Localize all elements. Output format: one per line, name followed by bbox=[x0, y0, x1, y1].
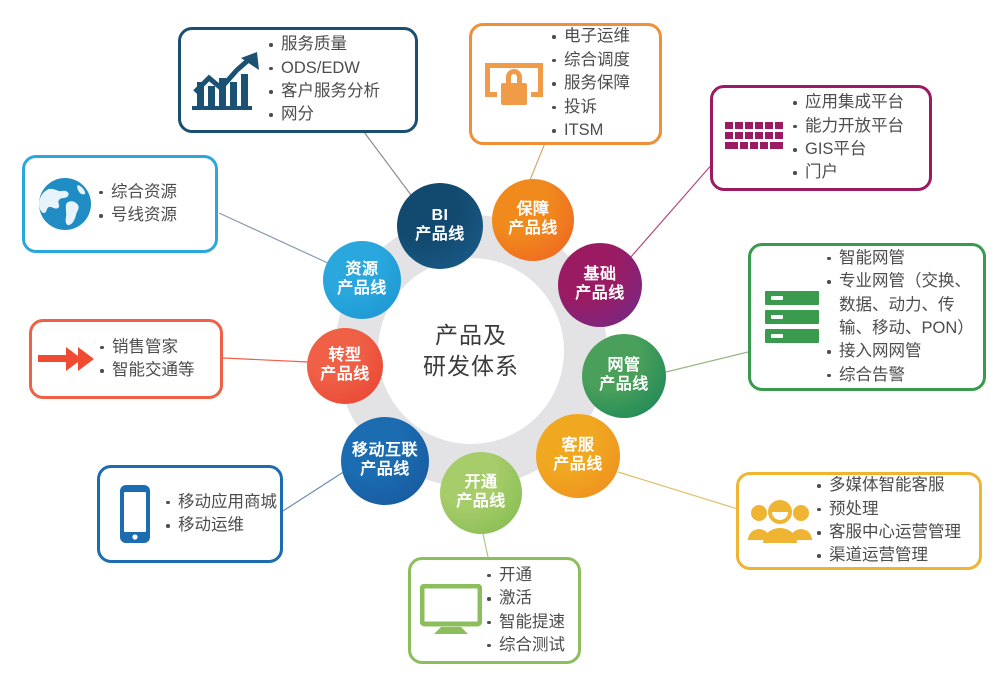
list-item: 综合测试 bbox=[485, 634, 570, 657]
bubble-kaitong-line1: 开通 bbox=[464, 474, 497, 493]
bubble-yidong-line2: 产品线 bbox=[360, 461, 410, 480]
bubble-kefu[interactable]: 客服 产品线 bbox=[536, 414, 620, 498]
list-item: 开通 bbox=[485, 564, 570, 587]
lock-monitor-icon bbox=[478, 51, 550, 117]
list-item: 门户 bbox=[791, 161, 921, 184]
connector-zhuanxing bbox=[223, 358, 308, 362]
list-item: 智能交通等 bbox=[98, 359, 212, 382]
list-item: 客户服务分析 bbox=[267, 80, 405, 103]
bubble-ziyuan-line1: 资源 bbox=[345, 261, 378, 280]
callout-wangguan-list: 智能网管 专业网管（交换、数据、动力、传输、移动、PON） 接入网网管 综合告警 bbox=[825, 247, 975, 388]
list-item: 投诉 bbox=[550, 96, 651, 119]
bubble-ziyuan-line2: 产品线 bbox=[337, 280, 387, 299]
bar-chart-arrow-icon bbox=[189, 48, 267, 112]
list-item: 多媒体智能客服 bbox=[815, 474, 971, 497]
hub-line-1: 产品及 bbox=[435, 320, 507, 351]
list-item: ITSM bbox=[550, 119, 651, 142]
callout-baozhang-list: 电子运维 综合调度 服务保障 投诉 ITSM bbox=[550, 25, 651, 142]
callout-ziyuan-list: 综合资源 号线资源 bbox=[97, 181, 207, 228]
list-item: 激活 bbox=[485, 587, 570, 610]
bubble-wangguan-line1: 网管 bbox=[607, 357, 640, 376]
callout-kefu[interactable]: 多媒体智能客服 预处理 客服中心运营管理 渠道运营管理 bbox=[736, 472, 982, 570]
keyboard-icon bbox=[721, 121, 791, 155]
bubble-jichu[interactable]: 基础 产品线 bbox=[558, 243, 642, 327]
bubble-baozhang-line1: 保障 bbox=[516, 201, 549, 220]
list-item: 能力开放平台 bbox=[791, 115, 921, 138]
callout-kefu-list: 多媒体智能客服 预处理 客服中心运营管理 渠道运营管理 bbox=[815, 474, 971, 568]
bubble-zhuanxing-line1: 转型 bbox=[328, 347, 361, 366]
bubble-baozhang[interactable]: 保障 产品线 bbox=[492, 179, 574, 261]
connector-wangguan bbox=[666, 352, 748, 372]
callout-yidong-list: 移动应用商城 移动运维 bbox=[164, 491, 277, 538]
callout-kaitong[interactable]: 开通 激活 智能提速 综合测试 bbox=[408, 557, 581, 664]
bubble-bi-line1: BI bbox=[432, 207, 449, 226]
connector-ziyuan bbox=[219, 213, 330, 264]
list-item: 客服中心运营管理 bbox=[815, 521, 971, 544]
bubble-wangguan-line2: 产品线 bbox=[599, 376, 649, 395]
callout-zhuanxing[interactable]: 销售管家 智能交通等 bbox=[29, 319, 223, 399]
list-item: 应用集成平台 bbox=[791, 91, 921, 114]
diagram-canvas: 产品及 研发体系 BI 产品线 保障 产品线 基础 产品线 网管 产品线 客服 … bbox=[0, 0, 999, 687]
connector-yidong bbox=[283, 471, 345, 511]
smartphone-icon bbox=[106, 483, 164, 545]
bubble-wangguan[interactable]: 网管 产品线 bbox=[582, 334, 666, 418]
list-item: 智能网管 bbox=[825, 247, 975, 270]
list-item: 渠道运营管理 bbox=[815, 544, 971, 567]
hub-label: 产品及 研发体系 bbox=[378, 258, 564, 444]
bubble-kefu-line1: 客服 bbox=[561, 437, 594, 456]
bubble-jichu-line2: 产品线 bbox=[575, 285, 625, 304]
list-item: 专业网管（交换、数据、动力、传输、移动、PON） bbox=[825, 270, 975, 340]
list-item: 移动应用商城 bbox=[164, 491, 277, 514]
bubble-zhuanxing-line2: 产品线 bbox=[320, 366, 370, 385]
bubble-yidong-line1: 移动互联 bbox=[352, 442, 418, 461]
connector-kefu bbox=[618, 472, 741, 510]
bubble-zhuanxing[interactable]: 转型 产品线 bbox=[307, 328, 383, 404]
monitor-icon bbox=[417, 584, 485, 638]
bubble-ziyuan[interactable]: 资源 产品线 bbox=[323, 241, 401, 319]
hub-line-2: 研发体系 bbox=[423, 351, 519, 382]
list-item: 接入网网管 bbox=[825, 340, 975, 363]
connector-baozhang bbox=[530, 143, 545, 180]
callout-jichu[interactable]: 应用集成平台 能力开放平台 GIS平台 门户 bbox=[710, 85, 932, 191]
connector-bi bbox=[364, 132, 414, 199]
list-item: 预处理 bbox=[815, 498, 971, 521]
list-item: 销售管家 bbox=[98, 336, 212, 359]
list-item: 网分 bbox=[267, 103, 405, 126]
callout-wangguan[interactable]: 智能网管 专业网管（交换、数据、动力、传输、移动、PON） 接入网网管 综合告警 bbox=[748, 243, 986, 391]
callout-bi-list: 服务质量 ODS/EDW 客户服务分析 网分 bbox=[267, 33, 405, 127]
bubble-kaitong[interactable]: 开通 产品线 bbox=[440, 452, 522, 534]
callout-yidong[interactable]: 移动应用商城 移动运维 bbox=[97, 465, 283, 563]
list-item: 号线资源 bbox=[97, 204, 207, 227]
list-item: 综合调度 bbox=[550, 49, 651, 72]
customer-group-icon bbox=[745, 498, 815, 544]
list-item: 综合告警 bbox=[825, 364, 975, 387]
callout-baozhang[interactable]: 电子运维 综合调度 服务保障 投诉 ITSM bbox=[469, 23, 662, 145]
bubble-kaitong-line2: 产品线 bbox=[456, 493, 506, 512]
callout-bi[interactable]: 服务质量 ODS/EDW 客户服务分析 网分 bbox=[178, 27, 418, 133]
connector-jichu bbox=[630, 162, 714, 258]
bubble-bi-line2: 产品线 bbox=[415, 226, 465, 245]
callout-jichu-list: 应用集成平台 能力开放平台 GIS平台 门户 bbox=[791, 91, 921, 185]
globe-icon bbox=[33, 176, 97, 232]
bubble-jichu-line1: 基础 bbox=[583, 266, 616, 285]
bubble-bi[interactable]: BI 产品线 bbox=[397, 183, 483, 269]
bubble-yidong[interactable]: 移动互联 产品线 bbox=[341, 417, 429, 505]
list-item: 服务保障 bbox=[550, 72, 651, 95]
list-item: GIS平台 bbox=[791, 138, 921, 161]
list-item: 综合资源 bbox=[97, 181, 207, 204]
list-item: ODS/EDW bbox=[267, 57, 405, 80]
bubble-kefu-line2: 产品线 bbox=[553, 456, 603, 475]
list-item: 服务质量 bbox=[267, 33, 405, 56]
bubble-baozhang-line2: 产品线 bbox=[508, 220, 558, 239]
callout-kaitong-list: 开通 激活 智能提速 综合测试 bbox=[485, 564, 570, 658]
list-item: 电子运维 bbox=[550, 25, 651, 48]
list-item: 智能提速 bbox=[485, 611, 570, 634]
server-stack-icon bbox=[759, 289, 825, 345]
callout-ziyuan[interactable]: 综合资源 号线资源 bbox=[22, 155, 218, 253]
connector-kaitong bbox=[483, 534, 488, 557]
double-arrow-icon bbox=[36, 344, 98, 374]
callout-zhuanxing-list: 销售管家 智能交通等 bbox=[98, 336, 212, 383]
list-item: 移动运维 bbox=[164, 514, 277, 537]
